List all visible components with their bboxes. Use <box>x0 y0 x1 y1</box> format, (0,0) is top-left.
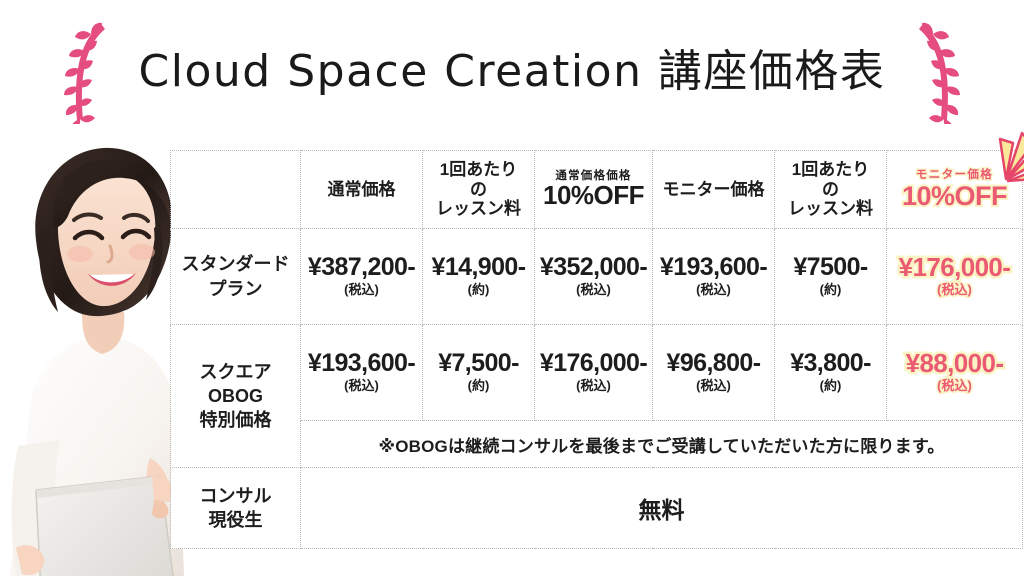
table-row: スタンダード プラン ¥387,200- (税込) ¥14,900- (約) ¥… <box>171 229 1023 325</box>
obog-condition-note: ※OBOGは継続コンサルを最後までご受講していただいた方に限ります。 <box>301 421 1023 468</box>
table-body: スタンダード プラン ¥387,200- (税込) ¥14,900- (約) ¥… <box>171 229 1023 549</box>
header-normal-price-label: 通常価格 <box>328 180 396 199</box>
header-monitor-per-lesson: 1回あたり の レッスン料 <box>775 151 887 229</box>
header-monitor-10off-main: 10%OFF <box>887 182 1022 210</box>
header-monitor-per-lesson-line2: の <box>822 180 839 199</box>
presenter-photo <box>0 128 196 576</box>
plan-label-obog-line2: OBOG <box>208 386 263 406</box>
amount: ¥96,800- <box>653 350 774 377</box>
table-header: 通常価格 1回あたり の レッスン料 通常価格価格 10%OFF モニター価格 … <box>171 151 1023 229</box>
amount: ¥387,200- <box>301 254 422 281</box>
plan-label-consultant-line2: 現役生 <box>209 510 263 530</box>
header-normal-per-lesson-line2: の <box>470 180 487 199</box>
header-normal-price: 通常価格 <box>301 151 423 229</box>
amount: ¥176,000- <box>535 350 652 377</box>
vine-bracket-right-icon <box>907 20 963 124</box>
cell-standard-monitor-10off: ¥176,000- (税込) <box>887 229 1023 325</box>
plan-label-standard-line1: スタンダード <box>182 254 290 274</box>
amount: ¥14,900- <box>423 254 534 281</box>
amount: ¥3,800- <box>775 350 886 377</box>
amount-note: (税込) <box>301 377 422 395</box>
cell-obog-normal-price: ¥193,600- (税込) <box>301 325 423 421</box>
cell-standard-normal-price: ¥387,200- (税込) <box>301 229 423 325</box>
table-header-row: 通常価格 1回あたり の レッスン料 通常価格価格 10%OFF モニター価格 … <box>171 151 1023 229</box>
amount: ¥352,000- <box>535 254 652 281</box>
page-title-area: Cloud Space Creation 講座価格表 <box>0 16 1024 128</box>
cell-obog-monitor-10off: ¥88,000- (税込) <box>887 325 1023 421</box>
cell-standard-monitor-per-lesson: ¥7500- (約) <box>775 229 887 325</box>
plan-label-obog-line3: 特別価格 <box>200 410 272 430</box>
amount-note: (税込) <box>653 281 774 299</box>
header-normal-10off-main: 10%OFF <box>535 182 652 209</box>
amount-note: (税込) <box>887 281 1022 299</box>
amount-note: (約) <box>775 377 886 395</box>
amount-note: (税込) <box>653 377 774 395</box>
header-normal-per-lesson-line1: 1回あたり <box>440 160 517 179</box>
amount-note: (約) <box>775 281 886 299</box>
cell-obog-monitor-per-lesson: ¥3,800- (約) <box>775 325 887 421</box>
table-row: スクエア OBOG 特別価格 ¥193,600- (税込) ¥7,500- (約… <box>171 325 1023 421</box>
header-monitor-10off: モニター価格 10%OFF <box>887 151 1023 229</box>
vine-bracket-left-icon <box>61 20 117 124</box>
woman-with-laptop-illustration <box>0 128 196 576</box>
header-monitor-per-lesson-line1: 1回あたり <box>792 160 869 179</box>
amount: ¥176,000- <box>887 253 1022 281</box>
cell-obog-normal-10off: ¥176,000- (税込) <box>535 325 653 421</box>
cell-standard-normal-10off: ¥352,000- (税込) <box>535 229 653 325</box>
header-monitor-per-lesson-line3: レッスン料 <box>788 199 873 218</box>
plan-label-standard-line2: プラン <box>209 279 263 299</box>
header-monitor-price: モニター価格 <box>653 151 775 229</box>
cell-standard-monitor-price: ¥193,600- (税込) <box>653 229 775 325</box>
plan-label-consultant-line1: コンサル <box>200 486 272 506</box>
amount-note: (税込) <box>887 377 1022 395</box>
amount: ¥193,600- <box>653 254 774 281</box>
amount: ¥88,000- <box>887 349 1022 377</box>
plan-label-obog: スクエア OBOG 特別価格 <box>171 325 301 468</box>
amount-note: (約) <box>423 377 534 395</box>
amount-note: (税込) <box>301 281 422 299</box>
page-title: Cloud Space Creation 講座価格表 <box>117 50 908 94</box>
header-normal-per-lesson-line3: レッスン料 <box>436 199 521 218</box>
table-row: コンサル 現役生 無料 <box>171 468 1023 549</box>
amount: ¥193,600- <box>301 350 422 377</box>
header-normal-10off: 通常価格価格 10%OFF <box>535 151 653 229</box>
amount: ¥7500- <box>775 254 886 281</box>
header-monitor-price-label: モニター価格 <box>663 180 765 199</box>
price-table: 通常価格 1回あたり の レッスン料 通常価格価格 10%OFF モニター価格 … <box>170 150 1023 549</box>
consultant-free-value: 無料 <box>301 468 1023 549</box>
cell-obog-normal-per-lesson: ¥7,500- (約) <box>423 325 535 421</box>
plan-label-consultant: コンサル 現役生 <box>171 468 301 549</box>
header-monitor-10off-sub: モニター価格 <box>887 169 1022 182</box>
plan-label-standard: スタンダード プラン <box>171 229 301 325</box>
header-plan-blank <box>171 151 301 229</box>
amount: ¥7,500- <box>423 350 534 377</box>
plan-label-obog-line1: スクエア <box>200 362 272 382</box>
amount-note: (税込) <box>535 281 652 299</box>
cell-obog-monitor-price: ¥96,800- (税込) <box>653 325 775 421</box>
cell-standard-normal-per-lesson: ¥14,900- (約) <box>423 229 535 325</box>
header-normal-per-lesson: 1回あたり の レッスン料 <box>423 151 535 229</box>
amount-note: (約) <box>423 281 534 299</box>
amount-note: (税込) <box>535 377 652 395</box>
